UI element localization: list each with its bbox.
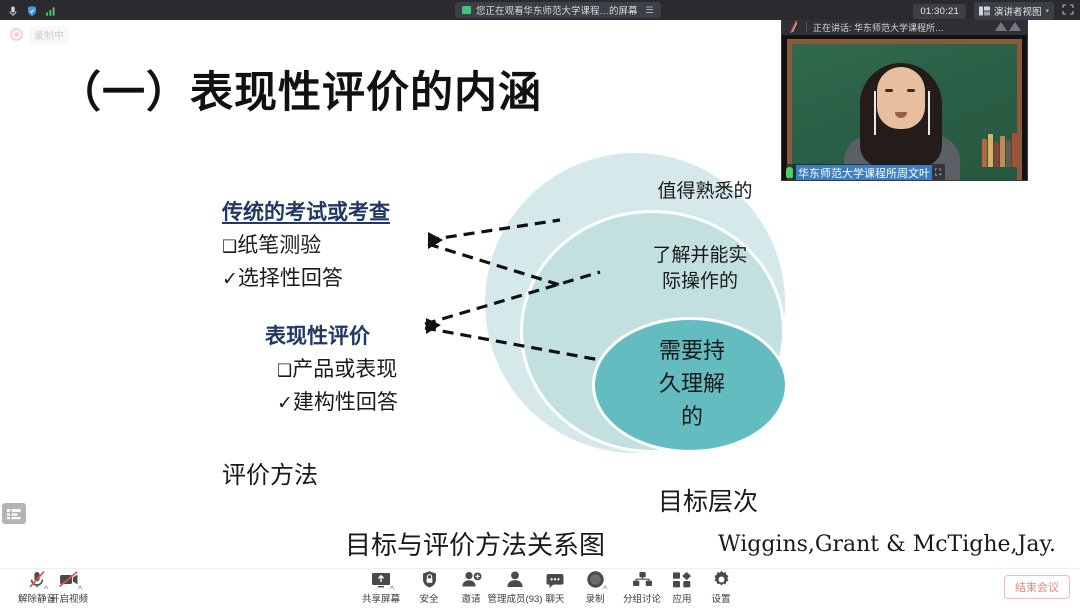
microphone-icon[interactable] bbox=[7, 4, 19, 16]
earphone-right bbox=[928, 91, 930, 135]
citation-text: Wiggins,Grant & McTighe,Jay. bbox=[718, 532, 1056, 557]
top-bar-right: 01:30:21 演讲者视图 ▾ bbox=[913, 2, 1074, 20]
axis-label-goal-level: 目标层次 bbox=[658, 482, 758, 518]
shield-icon[interactable] bbox=[26, 4, 38, 16]
group-performance-line-2-text: 建构性回答 bbox=[293, 390, 398, 414]
group-traditional-line-1-text: 纸笔测验 bbox=[237, 233, 321, 257]
recording-indicator: 录制中 bbox=[10, 26, 69, 43]
gear-settings-icon bbox=[712, 570, 731, 589]
recording-label: 录制中 bbox=[29, 26, 69, 43]
group-traditional-line-2: ✓选择性回答 bbox=[222, 262, 390, 292]
top-bar: 您正在观看华东师范大学课程…的屏幕 ☰ 01:30:21 演讲者视图 ▾ bbox=[0, 0, 1080, 20]
meeting-timer: 01:30:21 bbox=[913, 4, 966, 19]
speaker-view-icon bbox=[979, 6, 990, 16]
double-chevron-up-icon[interactable] bbox=[995, 22, 1021, 31]
chevron-down-icon: ▾ bbox=[1045, 7, 1049, 15]
circle-label-enduring: 需要持 久理解 的 bbox=[612, 335, 772, 434]
square-bullet-icon: ❑ bbox=[277, 361, 292, 381]
hamburger-icon[interactable]: ☰ bbox=[646, 5, 654, 16]
arrowhead-2 bbox=[426, 318, 441, 334]
toolbar-start-video-label: 开启视频 bbox=[50, 591, 88, 605]
group-performance-line-2: ✓建构性回答 bbox=[265, 386, 398, 416]
view-mode-label: 演讲者视图 bbox=[994, 4, 1042, 18]
toolbar-security-label: 安全 bbox=[419, 591, 438, 605]
screen-share-notice[interactable]: 您正在观看华东师范大学课程…的屏幕 ☰ bbox=[455, 2, 661, 18]
group-performance-heading: 表现性评价 bbox=[265, 320, 398, 350]
circle-label-enduring-line2: 久理解 bbox=[612, 368, 772, 401]
page-title: （一）表现性评价的内涵 bbox=[58, 58, 542, 120]
check-bullet-icon: ✓ bbox=[277, 392, 293, 414]
share-notice-text: 您正在观看华东师范大学课程…的屏幕 bbox=[476, 3, 638, 17]
circle-label-familiar: 值得熟悉的 bbox=[615, 176, 795, 203]
zoom-meeting-window: 您正在观看华东师范大学课程…的屏幕 ☰ 01:30:21 演讲者视图 ▾ 录制中… bbox=[0, 0, 1080, 608]
arrowhead-1 bbox=[428, 232, 443, 249]
record-options-caret-icon[interactable]: ^ bbox=[603, 584, 607, 594]
circle-label-enduring-line1: 需要持 bbox=[612, 335, 772, 368]
video-header: 正在讲话: 华东师范大学课程所… bbox=[782, 19, 1027, 35]
record-circle-icon bbox=[586, 570, 605, 589]
pencil-slash-icon[interactable] bbox=[786, 19, 802, 35]
toolbar-settings-button[interactable]: 设置 bbox=[692, 570, 750, 605]
circle-label-doit-line2: 际操作的 bbox=[610, 268, 790, 294]
record-dot-icon bbox=[10, 28, 23, 41]
group-traditional-line-1: ❑纸笔测验 bbox=[222, 229, 390, 259]
toolbar-apps-label: 应用 bbox=[672, 591, 691, 605]
camera-off-icon bbox=[58, 570, 80, 589]
end-meeting-button[interactable]: 结束会议 bbox=[1004, 575, 1070, 599]
speaker-video-thumbnail[interactable]: 正在讲话: 华东师范大学课程所… bbox=[781, 18, 1028, 181]
group-performance-line-1-text: 产品或表现 bbox=[292, 357, 397, 381]
video-header-title: 正在讲话: 华东师范大学课程所… bbox=[813, 21, 944, 34]
participant-name: 华东师范大学课程所周文叶 bbox=[796, 165, 932, 181]
axis-label-evaluation-method: 评价方法 bbox=[222, 455, 318, 490]
circle-label-enduring-line3: 的 bbox=[612, 401, 772, 434]
share-screen-icon bbox=[370, 570, 392, 589]
group-traditional-heading: 传统的考试或考查 bbox=[222, 196, 390, 226]
video-feed: 华东师范大学课程所周文叶 ⛶ bbox=[782, 35, 1027, 181]
square-bullet-icon: ❑ bbox=[222, 237, 237, 257]
toolbar-share-screen-label: 共享屏幕 bbox=[362, 591, 400, 605]
meeting-toolbar: 解除静音 ^ 开启视频 ^ 共享屏幕 ^ 安全 邀请 bbox=[0, 568, 1080, 608]
toolbar-record-label: 录制 bbox=[585, 591, 604, 605]
participant-name-bar: 华东师范大学课程所周文叶 ⛶ bbox=[782, 164, 945, 181]
top-bar-status-icons bbox=[0, 4, 57, 16]
chat-bubble-icon bbox=[545, 570, 565, 589]
bookshelf bbox=[982, 133, 1017, 167]
speaker-face bbox=[877, 67, 925, 129]
group-performance-line-1: ❑产品或表现 bbox=[265, 353, 398, 383]
toolbar-start-video-button[interactable]: 开启视频 bbox=[40, 570, 98, 605]
apps-grid-icon bbox=[672, 570, 692, 589]
diagram-caption: 目标与评价方法关系图 bbox=[345, 525, 605, 562]
breakout-rooms-icon bbox=[632, 570, 653, 589]
share-options-caret-icon[interactable]: ^ bbox=[390, 584, 394, 594]
microphone-on-icon bbox=[786, 167, 793, 178]
list-menu-icon[interactable] bbox=[2, 503, 26, 524]
circle-label-doit: 了解并能实 际操作的 bbox=[610, 242, 790, 294]
divider bbox=[806, 22, 807, 32]
toolbar-settings-label: 设置 bbox=[711, 591, 730, 605]
group-performance-assessment: 表现性评价 ❑产品或表现 ✓建构性回答 bbox=[265, 320, 398, 416]
toolbar-chat-label: 聊天 bbox=[545, 591, 564, 605]
video-options-caret-icon[interactable]: ^ bbox=[78, 584, 82, 594]
circle-label-doit-line1: 了解并能实 bbox=[610, 242, 790, 268]
shield-security-icon bbox=[421, 570, 438, 589]
share-active-indicator-icon bbox=[462, 6, 471, 14]
signal-bars-icon[interactable] bbox=[45, 4, 57, 16]
earphone-left bbox=[874, 91, 876, 135]
check-bullet-icon: ✓ bbox=[222, 268, 238, 290]
fullscreen-expand-icon[interactable] bbox=[1062, 4, 1074, 18]
video-pin-icon[interactable]: ⛶ bbox=[935, 167, 941, 178]
view-mode-selector[interactable]: 演讲者视图 ▾ bbox=[974, 2, 1054, 20]
group-traditional-line-2-text: 选择性回答 bbox=[238, 266, 343, 290]
manage-participants-icon bbox=[505, 570, 525, 589]
group-traditional-exam: 传统的考试或考查 ❑纸笔测验 ✓选择性回答 bbox=[222, 196, 390, 292]
